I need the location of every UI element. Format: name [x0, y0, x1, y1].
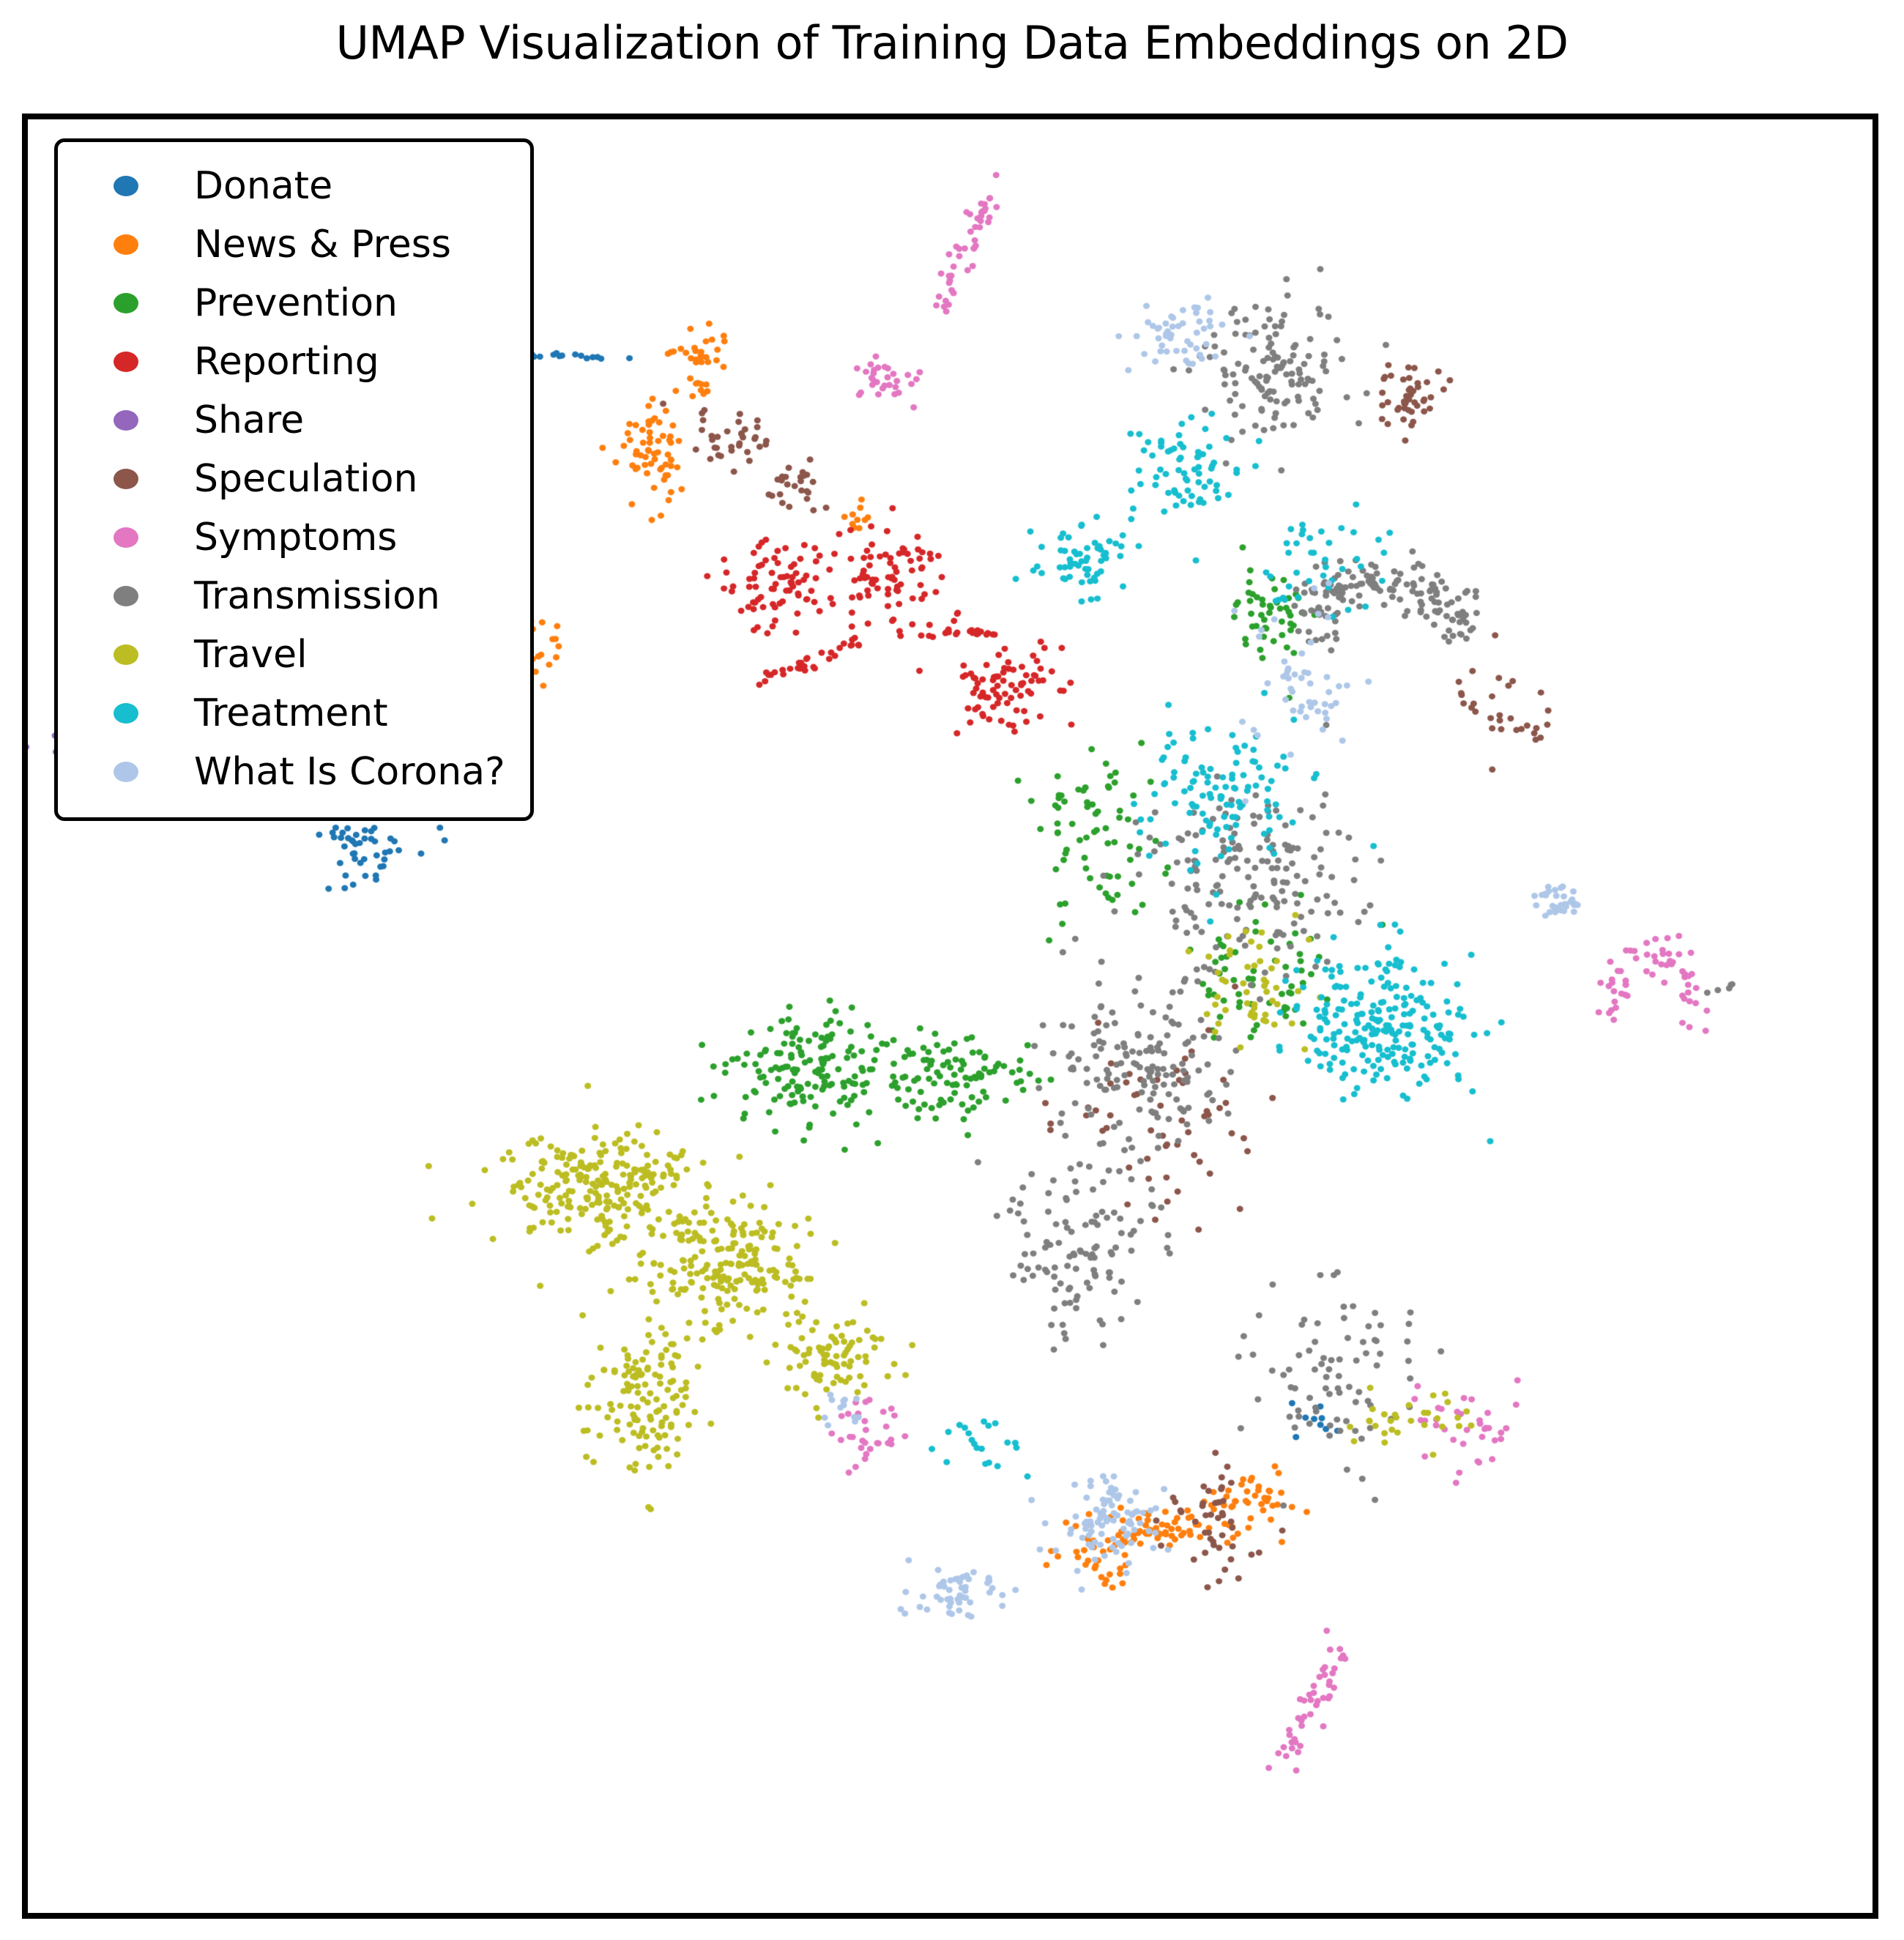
legend-swatch-news-press	[114, 234, 138, 255]
legend-swatch-travel	[114, 644, 138, 665]
legend-label: Speculation	[156, 460, 417, 498]
legend-item[interactable]: Transmission	[83, 567, 505, 625]
legend-label: Prevention	[156, 284, 398, 322]
legend-label: Transmission	[156, 577, 440, 615]
legend-item[interactable]: Treatment	[83, 684, 505, 743]
legend-swatch-speculation	[114, 469, 138, 489]
legend-item[interactable]: Donate	[83, 157, 505, 215]
legend-label: Donate	[156, 167, 332, 205]
legend-label: Treatment	[156, 694, 388, 732]
legend-label: Travel	[156, 636, 308, 674]
legend-item[interactable]: News & Press	[83, 215, 505, 274]
legend-item[interactable]: Prevention	[83, 274, 505, 332]
legend-label: Share	[156, 401, 304, 439]
legend-swatch-transmission	[114, 586, 138, 606]
legend-item[interactable]: Share	[83, 391, 505, 450]
legend-item[interactable]: Reporting	[83, 332, 505, 391]
legend-swatch-what-is-corona	[114, 762, 138, 782]
legend-label: What Is Corona?	[156, 753, 505, 791]
legend-item[interactable]: What Is Corona?	[83, 743, 505, 801]
scatter-plot-area: Donate News & Press Prevention Reporting…	[22, 114, 1878, 1919]
legend-label: News & Press	[156, 226, 451, 264]
legend-label: Symptoms	[156, 519, 397, 557]
legend-swatch-reporting	[114, 352, 138, 372]
legend-item[interactable]: Travel	[83, 625, 505, 684]
legend-label: Reporting	[156, 343, 379, 381]
legend-swatch-symptoms	[114, 527, 138, 548]
legend-swatch-treatment	[114, 703, 138, 724]
page-title: UMAP Visualization of Training Data Embe…	[0, 16, 1904, 70]
legend-item[interactable]: Symptoms	[83, 508, 505, 567]
legend-swatch-prevention	[114, 293, 138, 313]
umap-figure: UMAP Visualization of Training Data Embe…	[0, 0, 1904, 1940]
legend-swatch-donate	[114, 176, 138, 196]
legend-item[interactable]: Speculation	[83, 450, 505, 508]
legend-swatch-share	[114, 410, 138, 431]
chart-legend: Donate News & Press Prevention Reporting…	[54, 138, 534, 821]
